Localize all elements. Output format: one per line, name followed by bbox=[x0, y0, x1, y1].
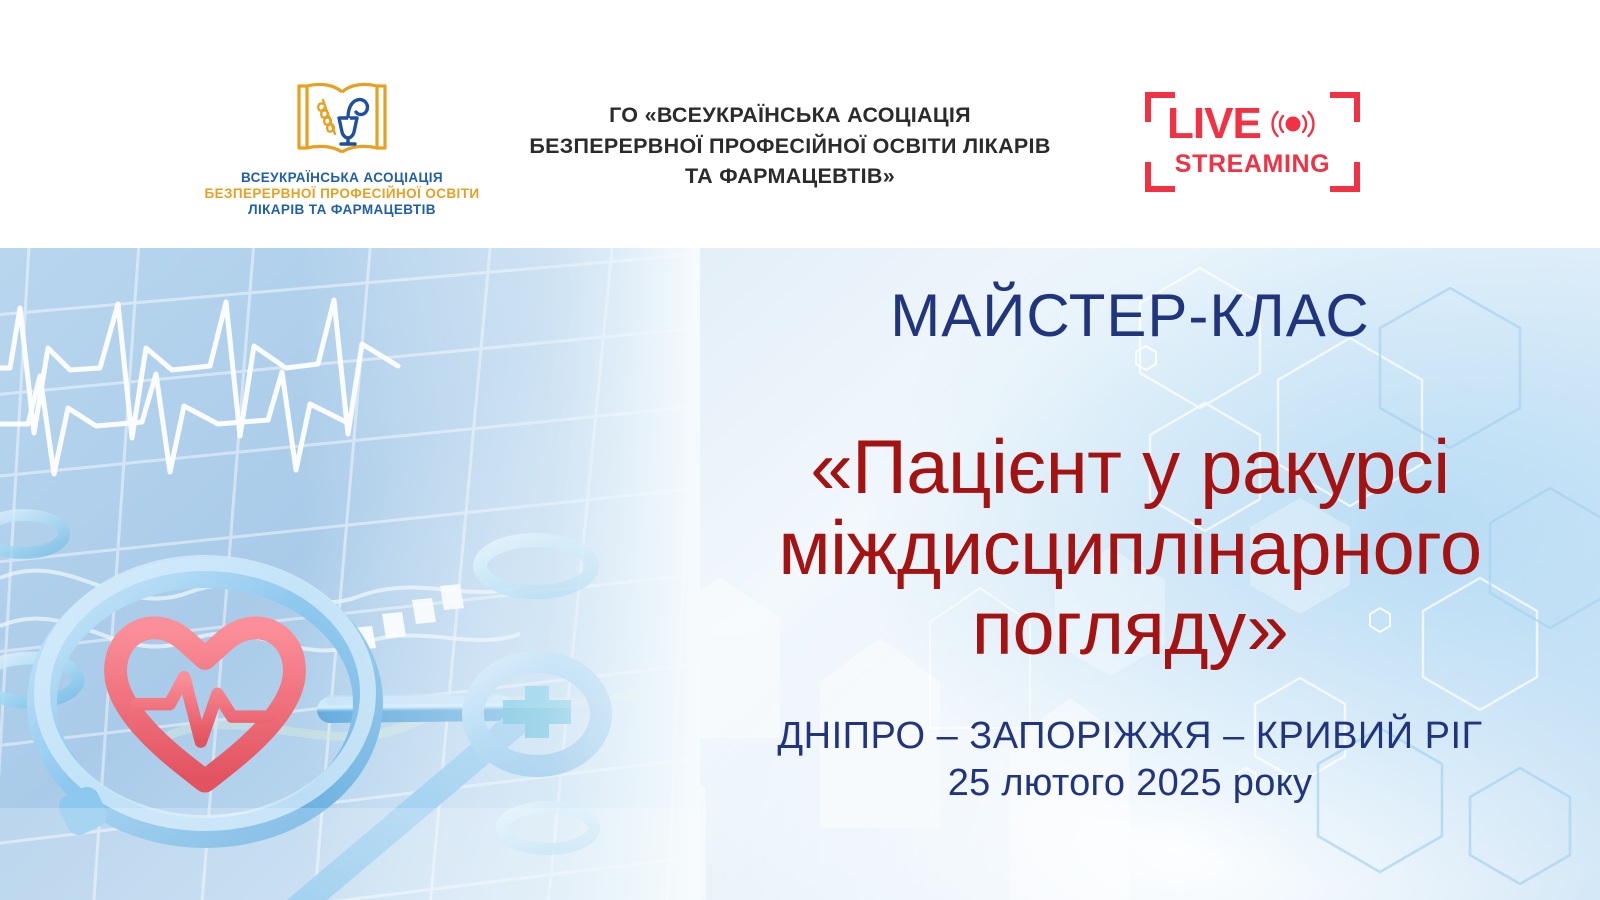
event-title-line-1: «Пацієнт у ракурсі bbox=[660, 428, 1600, 509]
event-date: 25 лютого 2025 року bbox=[660, 760, 1600, 808]
org-name-line-3: ТА ФАРМАЦЕВТІВ» bbox=[490, 161, 1090, 192]
logo-text-line-2: БЕЗПЕРЕРВНОЇ ПРОФЕСІЙНОЇ ОСВІТИ bbox=[196, 186, 488, 202]
org-name-line-2: БЕЗПЕРЕРВНОЇ ПРОФЕСІЙНОЇ ОСВІТИ ЛІКАРІВ bbox=[490, 131, 1090, 162]
live-row: LIVE bbox=[1167, 100, 1342, 148]
streaming-label: STREAMING bbox=[1145, 150, 1360, 179]
banner-copy: МАЙСТЕР-КЛАС «Пацієнт у ракурсі міждисци… bbox=[660, 248, 1600, 900]
live-label: LIVE bbox=[1167, 102, 1261, 146]
event-title: «Пацієнт у ракурсі міждисциплінарного по… bbox=[660, 428, 1600, 670]
event-title-line-2: міждисциплінарного bbox=[660, 509, 1600, 590]
live-streaming-badge: LIVE STREAMING bbox=[1145, 92, 1360, 192]
event-cities: ДНІПРО – ЗАПОРІЖЖЯ – КРИВИЙ РІГ bbox=[660, 713, 1600, 761]
banner-page: ВСЕУКРАЇНСЬКА АСОЦІАЦІЯ БЕЗПЕРЕРВНОЇ ПРО… bbox=[0, 0, 1600, 900]
broadcast-signal-icon bbox=[1271, 107, 1315, 141]
medical-network-3d-illustration: HEALTH bbox=[0, 248, 700, 900]
event-kicker: МАЙСТЕР-КЛАС bbox=[660, 286, 1600, 346]
header-bar: ВСЕУКРАЇНСЬКА АСОЦІАЦІЯ БЕЗПЕРЕРВНОЇ ПРО… bbox=[0, 0, 1600, 248]
open-book-bowl-of-hygieia-logo bbox=[277, 78, 407, 164]
association-logo-text: ВСЕУКРАЇНСЬКА АСОЦІАЦІЯ БЕЗПЕРЕРВНОЇ ПРО… bbox=[196, 170, 488, 218]
org-name-line-1: ГО «ВСЕУКРАЇНСЬКА АСОЦІАЦІЯ bbox=[490, 100, 1090, 131]
logo-text-line-1: ВСЕУКРАЇНСЬКА АСОЦІАЦІЯ bbox=[196, 170, 488, 186]
banner-artwork-area: HEALTH bbox=[0, 248, 1600, 900]
logo-text-line-3: ЛІКАРІВ ТА ФАРМАЦЕВТІВ bbox=[196, 202, 488, 218]
organisation-name: ГО «ВСЕУКРАЇНСЬКА АСОЦІАЦІЯ БЕЗПЕРЕРВНОЇ… bbox=[490, 100, 1090, 192]
association-logo: ВСЕУКРАЇНСЬКА АСОЦІАЦІЯ БЕЗПЕРЕРВНОЇ ПРО… bbox=[196, 78, 488, 218]
event-title-line-3: погляду» bbox=[660, 589, 1600, 670]
